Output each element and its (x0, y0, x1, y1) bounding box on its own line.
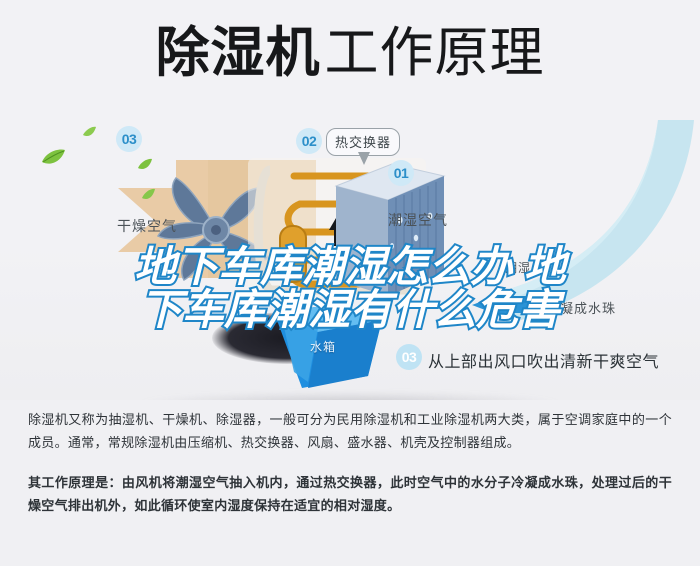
headline-strong: 除湿机 (156, 23, 321, 83)
leaf-icon (40, 148, 66, 168)
callout-badge-03: 03 (116, 126, 142, 152)
article-body: 除湿机又称为抽湿机、干燥机、除湿器，一般可分为民用除湿机和工业除湿机两大类，属于… (0, 408, 700, 517)
callout-badge-02: 02 (296, 128, 322, 154)
article-paragraph-2: 其工作原理是：由风机将潮湿空气抽入机内，通过热交换器，此时空气中的水分子冷凝成水… (0, 471, 700, 517)
bullet-badge-03: 03 (396, 344, 422, 370)
infographic-scene: 03 干燥空气 02 热交换器 01 潮湿空气 潮湿 凝成水珠 水箱 03 从上… (0, 112, 700, 400)
bubble-stem-icon (358, 152, 370, 165)
bullet-text: 从上部出风口吹出清新干爽空气 (428, 348, 659, 372)
callout-label-humid-air: 潮湿空气 (388, 210, 448, 230)
headline-light: 工作原理 (325, 23, 545, 83)
callout-badge-01: 01 (388, 160, 414, 186)
infographic-image: 除湿机工作原理 (0, 0, 700, 400)
infographic-headline: 除湿机工作原理 (0, 26, 700, 80)
article-paragraph-1: 除湿机又称为抽湿机、干燥机、除湿器，一般可分为民用除湿机和工业除湿机两大类，属于… (0, 408, 700, 454)
hidden-label-condense: 凝成水珠 (560, 298, 616, 317)
leaf-icon (82, 126, 97, 139)
water-tank-label: 水箱 (310, 338, 336, 355)
hidden-label-humid: 潮湿 (505, 259, 531, 276)
page-root: 除湿机工作原理 (0, 0, 700, 566)
callout-label-dry-air: 干燥空气 (117, 216, 177, 236)
